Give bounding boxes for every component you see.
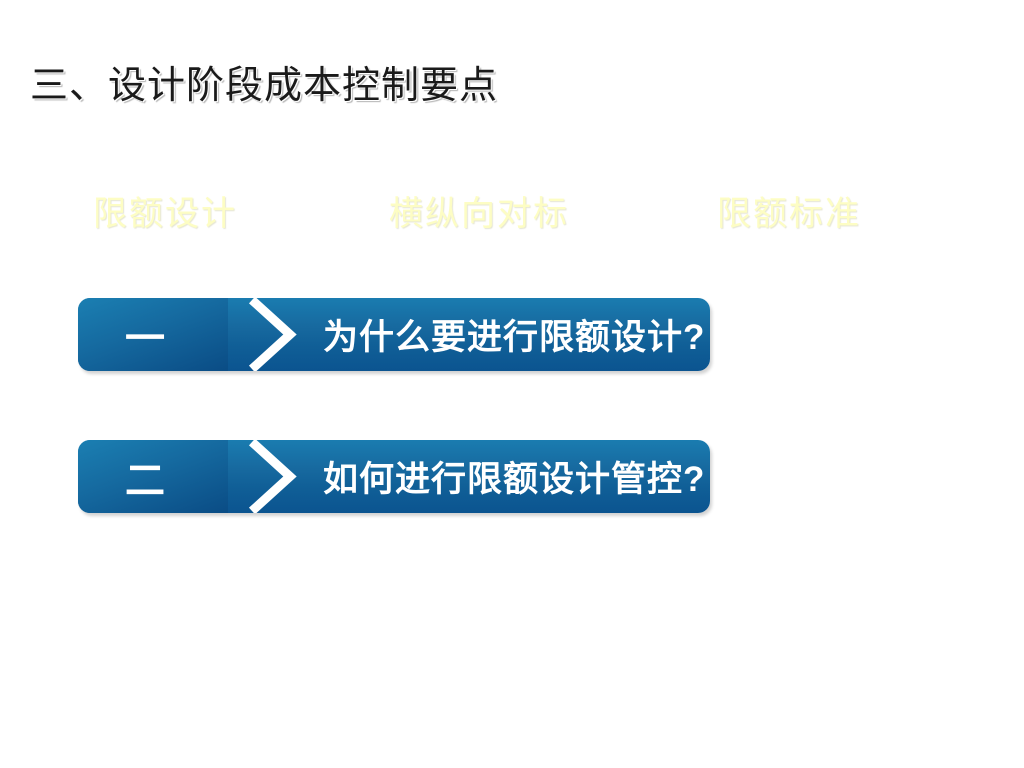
category-label-limit-standard: 限额标准 — [717, 192, 861, 238]
banner-1-label: 为什么要进行限额设计? — [323, 298, 705, 371]
category-label-row: 限额设计 横纵向对标 限额标准 — [0, 192, 1024, 242]
chevron-banner-1[interactable]: 一 为什么要进行限额设计? — [78, 298, 710, 371]
banner-2-index: 二 — [78, 440, 228, 513]
category-label-limit-design: 限额设计 — [93, 192, 237, 238]
banner-2-label: 如何进行限额设计管控? — [323, 440, 705, 513]
chevron-right-icon — [218, 298, 304, 371]
chevron-right-icon — [218, 440, 304, 513]
banner-1-index: 一 — [78, 298, 228, 371]
page-title: 三、设计阶段成本控制要点 — [30, 62, 498, 110]
category-label-benchmarking: 横纵向对标 — [389, 192, 569, 238]
chevron-banner-2[interactable]: 二 如何进行限额设计管控? — [78, 440, 710, 513]
